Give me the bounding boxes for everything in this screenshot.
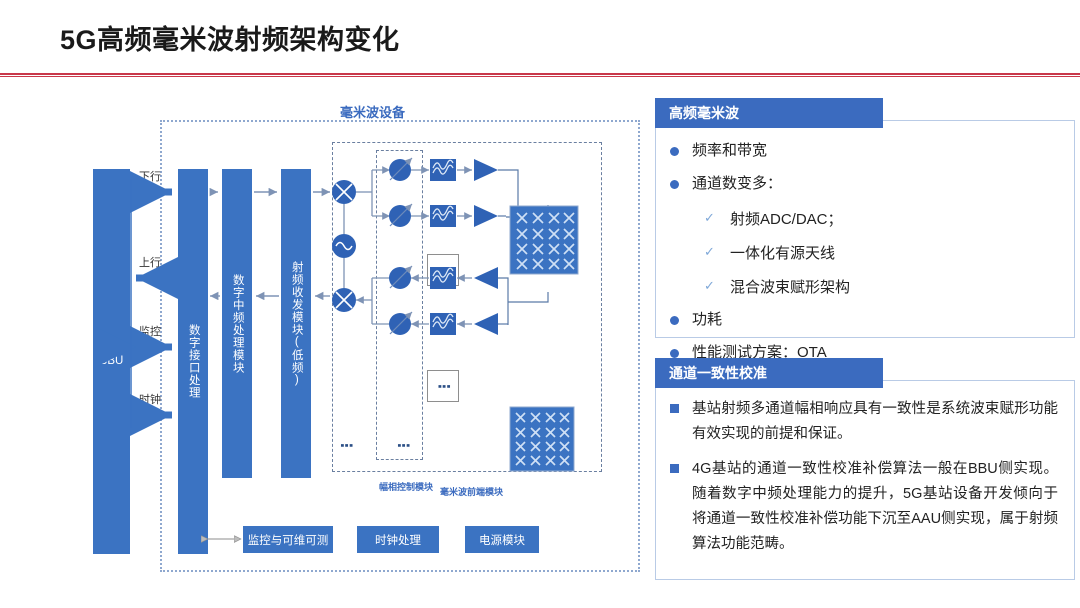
bullet-dot-icon xyxy=(670,316,679,325)
list-item: 功耗 xyxy=(670,310,1060,330)
amplifier-icon-tx2 xyxy=(474,205,498,227)
bullet-dot-icon xyxy=(670,147,679,156)
check-icon: ✓ xyxy=(704,278,720,294)
panel-1-body: 频率和带宽 通道数变多： ✓ 射频ADC/DAC； ✓ 一体化有源天线 ✓ 混合… xyxy=(655,120,1075,338)
list-item-label: 频率和带宽 xyxy=(692,141,767,161)
filter-icon-rx1 xyxy=(430,267,456,289)
list-item: 4G基站的通道一致性校准补偿算法一般在BBU侧实现。随着数字中频处理能力的提升，… xyxy=(670,457,1058,557)
list-item-label: 一体化有源天线 xyxy=(730,242,835,263)
list-item: 基站射频多通道幅相响应具有一致性是系统波束赋形功能有效实现的前提和保证。 xyxy=(670,397,1058,447)
list-item: 通道数变多： xyxy=(670,174,1060,194)
filter-icon-tx1 xyxy=(430,159,456,181)
diagram-overlay xyxy=(0,80,650,608)
bullet-dot-icon xyxy=(670,349,679,358)
panel-high-freq-mmwave: 频率和带宽 通道数变多： ✓ 射频ADC/DAC； ✓ 一体化有源天线 ✓ 混合… xyxy=(655,98,1075,338)
amplifier-icon-rx2 xyxy=(474,313,498,335)
page-title: 5G高频毫米波射频架构变化 xyxy=(60,18,400,57)
list-item: ✓ 一体化有源天线 xyxy=(704,242,1060,263)
amplifier-icon-tx1 xyxy=(474,159,498,181)
list-item: 频率和带宽 xyxy=(670,141,1060,161)
phase-shifter-icon-tx1 xyxy=(389,158,412,181)
antenna-array-icon-1 xyxy=(510,206,578,274)
amplifier-icon-rx1 xyxy=(474,267,498,289)
mixer-icon-tx xyxy=(332,180,356,204)
slide-root: 5G高频毫米波射频架构变化 毫米波设备 BBU 数字接口处理 数字中频处理模块 … xyxy=(0,0,1080,608)
panel-2-list: 基站射频多通道幅相响应具有一致性是系统波束赋形功能有效实现的前提和保证。 4G基… xyxy=(656,381,1074,565)
phase-shifter-icon-tx2 xyxy=(389,204,412,227)
bullet-square-icon xyxy=(670,404,679,413)
list-item-label: 混合波束赋形架构 xyxy=(730,276,850,297)
panel-channel-calibration: 基站射频多通道幅相响应具有一致性是系统波束赋形功能有效实现的前提和保证。 4G基… xyxy=(655,358,1075,580)
list-item-label: 通道数变多： xyxy=(692,174,782,194)
bullet-square-icon xyxy=(670,464,679,473)
check-icon: ✓ xyxy=(704,244,720,260)
panel-1-title: 高频毫米波 xyxy=(655,98,883,128)
architecture-diagram: 毫米波设备 BBU 数字接口处理 数字中频处理模块 射频收发模块(低频) 下行 … xyxy=(0,80,650,608)
local-oscillator-icon xyxy=(332,204,356,288)
list-item: ✓ 射频ADC/DAC； xyxy=(704,208,1060,229)
filter-icon-rx2 xyxy=(430,313,456,335)
list-item-label: 基站射频多通道幅相响应具有一致性是系统波束赋形功能有效实现的前提和保证。 xyxy=(692,397,1058,447)
check-icon: ✓ xyxy=(704,210,720,226)
panel-2-title: 通道一致性校准 xyxy=(655,358,883,388)
mixer-icon-rx xyxy=(332,288,356,312)
antenna-array-icon-2 xyxy=(510,407,574,471)
panel-1-list: 频率和带宽 通道数变多： ✓ 射频ADC/DAC； ✓ 一体化有源天线 ✓ 混合… xyxy=(656,121,1074,373)
bullet-dot-icon xyxy=(670,180,679,189)
phase-shifter-icon-rx2 xyxy=(389,312,412,335)
list-item-label: 射频ADC/DAC； xyxy=(730,208,843,229)
bbu-link-arrows xyxy=(131,179,172,428)
list-item-label: 4G基站的通道一致性校准补偿算法一般在BBU侧实现。随着数字中频处理能力的提升，… xyxy=(692,457,1058,557)
list-item: ✓ 混合波束赋形架构 xyxy=(704,276,1060,297)
filter-icon-tx2 xyxy=(430,205,456,227)
phase-shifter-icon-rx1 xyxy=(389,266,412,289)
panel-2-body: 基站射频多通道幅相响应具有一致性是系统波束赋形功能有效实现的前提和保证。 4G基… xyxy=(655,380,1075,580)
title-divider-highlight xyxy=(0,75,1080,76)
list-item-label: 功耗 xyxy=(692,310,722,330)
